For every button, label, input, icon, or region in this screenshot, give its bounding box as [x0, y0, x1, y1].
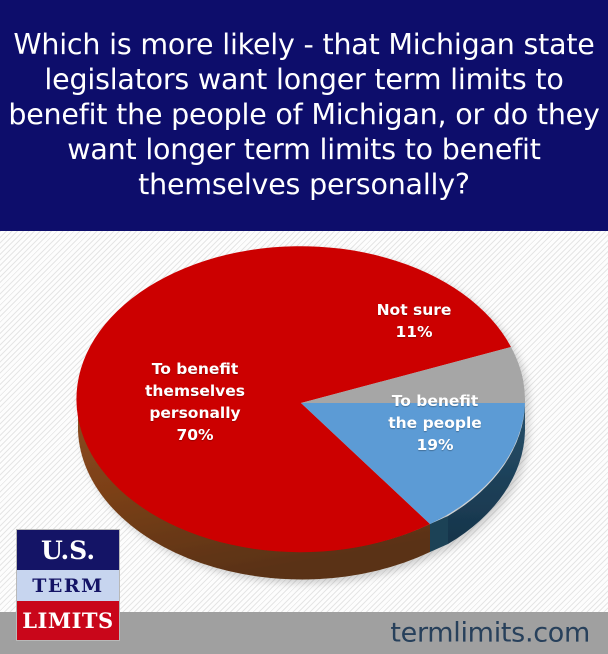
pie-label-line: themselves: [110, 380, 280, 402]
pie-label-to-benefit-themselves-personally: To benefit themselves personally 70%: [110, 358, 280, 446]
pie-label-value: 70%: [110, 424, 280, 446]
pie-label-line: Not sure: [362, 299, 466, 321]
page-title: Which is more likely - that Michigan sta…: [6, 27, 602, 204]
pie-label-not-sure: Not sure 11%: [362, 299, 466, 343]
pie-label-line: the people: [368, 412, 502, 434]
pie-label-line: To benefit: [368, 390, 502, 412]
us-term-limits-logo: U.S. TERM LIMITS: [16, 529, 120, 641]
logo-line-us: U.S.: [17, 530, 119, 570]
infographic-page: Which is more likely - that Michigan sta…: [0, 0, 608, 654]
header-banner: Which is more likely - that Michigan sta…: [0, 0, 608, 231]
pie-label-line: To benefit: [110, 358, 280, 380]
logo-line-limits: LIMITS: [17, 601, 119, 640]
logo-line-term: TERM: [17, 570, 119, 601]
pie-label-line: personally: [110, 402, 280, 424]
pie-label-value: 11%: [362, 321, 466, 343]
website-url: termlimits.com: [390, 618, 590, 649]
pie-label-value: 19%: [368, 434, 502, 456]
pie-label-to-benefit-the-people: To benefit the people 19%: [368, 390, 502, 456]
